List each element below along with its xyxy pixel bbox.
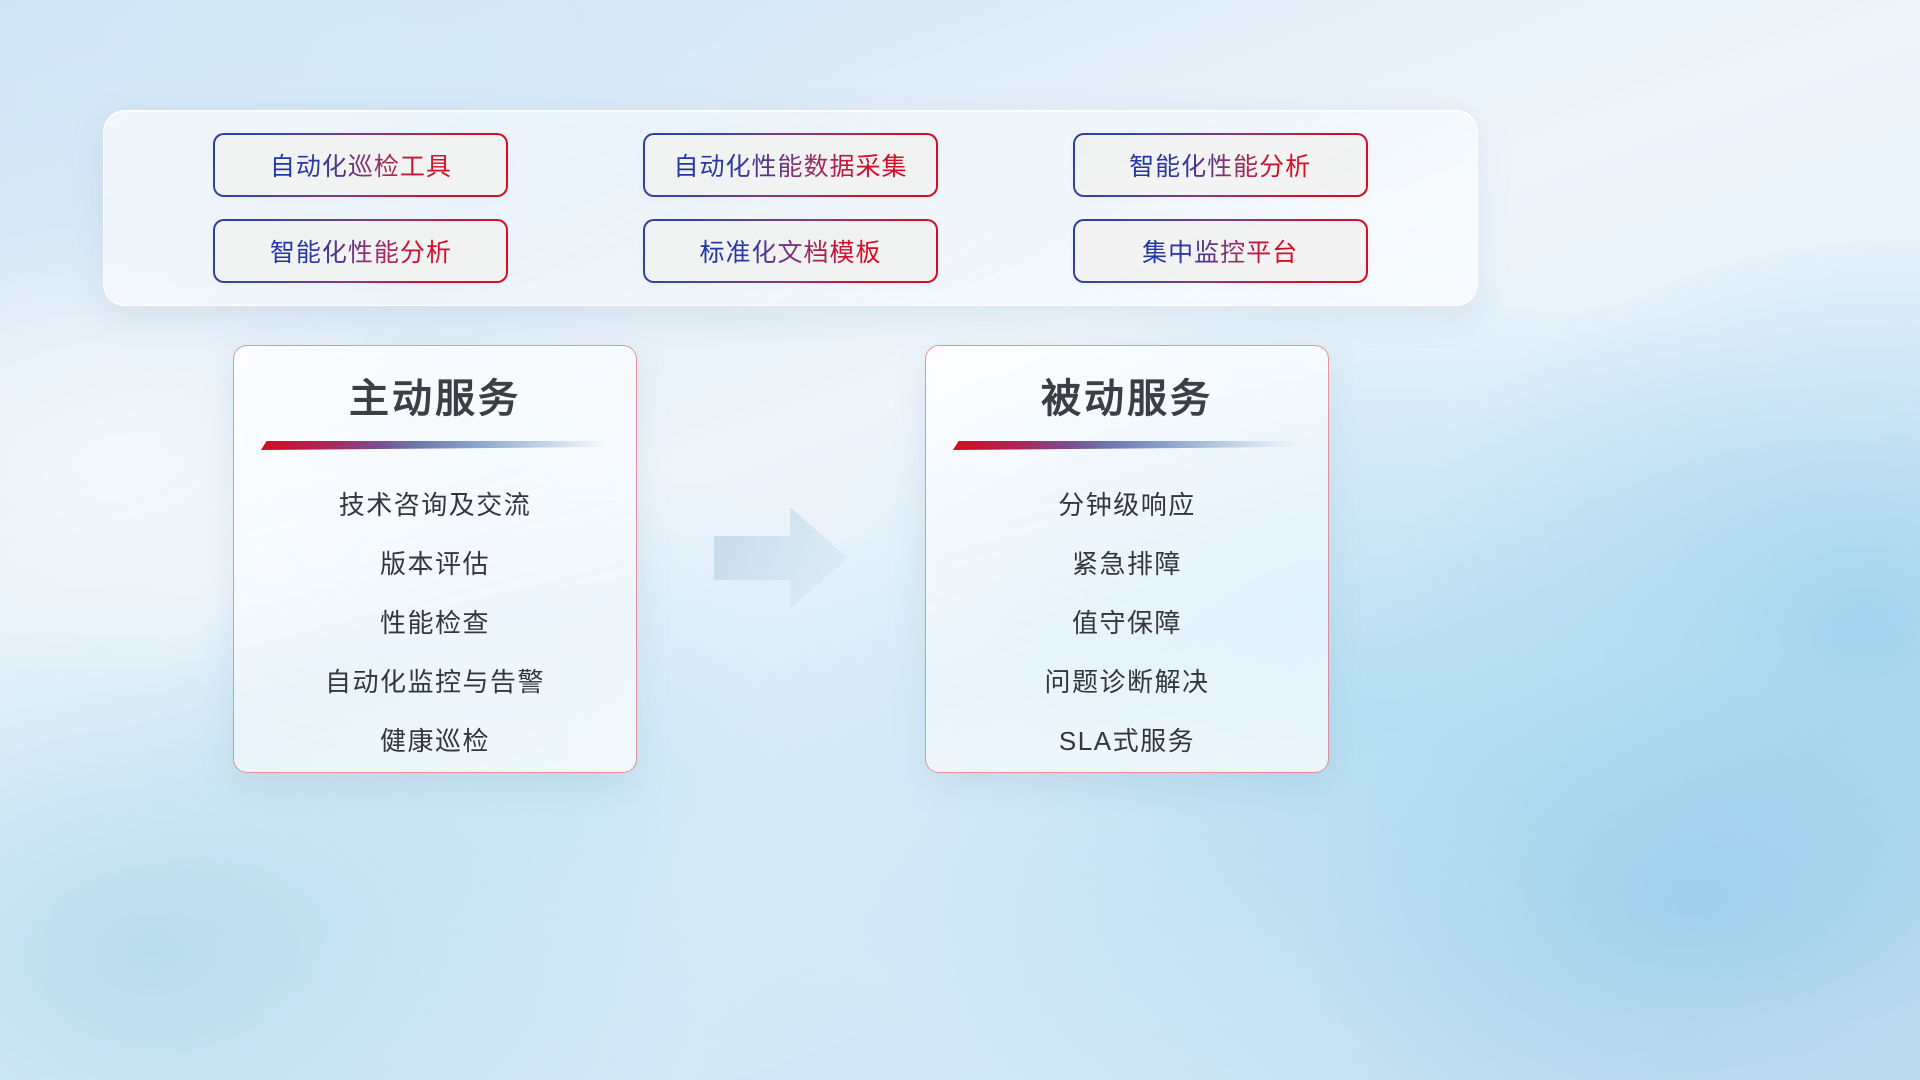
capability-pill-label: 集中监控平台: [1142, 233, 1298, 269]
capability-pill-label: 标准化文档模板: [699, 233, 881, 269]
capability-pill-label: 智能化性能分析: [270, 233, 452, 269]
list-item: 问题诊断解决: [946, 653, 1308, 712]
capability-pill-3[interactable]: 智能化性能分析: [1074, 135, 1366, 195]
card-title: 主动服务: [254, 374, 616, 424]
capability-pill-2[interactable]: 自动化性能数据采集: [644, 135, 936, 195]
service-item-list: 技术咨询及交流 版本评估 性能检查 自动化监控与告警 健康巡检: [254, 476, 616, 771]
right-arrow-icon: [712, 503, 850, 613]
list-item: SLA式服务: [946, 712, 1308, 771]
list-item: 版本评估: [254, 535, 616, 594]
list-item: 分钟级响应: [946, 476, 1308, 535]
list-item: 紧急排障: [946, 535, 1308, 594]
capability-pill-1[interactable]: 自动化巡检工具: [215, 135, 507, 195]
list-item: 值守保障: [946, 594, 1308, 653]
title-underline-bar: [953, 441, 1301, 450]
title-underline-bar: [261, 441, 609, 450]
card-title: 被动服务: [946, 374, 1308, 424]
list-item: 技术咨询及交流: [254, 476, 616, 535]
capability-pill-label: 自动化巡检工具: [270, 147, 452, 183]
list-item: 健康巡检: [254, 712, 616, 771]
service-item-list: 分钟级响应 紧急排障 值守保障 问题诊断解决 SLA式服务: [946, 476, 1308, 771]
service-card-active: 主动服务 技术咨询及交流 版本评估 性能检查 自动化监控与告警 健康巡检: [233, 345, 637, 773]
list-item: 自动化监控与告警: [254, 653, 616, 712]
capability-pill-6[interactable]: 集中监控平台: [1074, 221, 1366, 281]
capability-pill-grid: 自动化巡检工具 自动化性能数据采集 智能化性能分析 智能化性能分析 标准化文档模…: [104, 111, 1477, 305]
list-item: 性能检查: [254, 594, 616, 653]
capability-pill-5[interactable]: 标准化文档模板: [644, 221, 936, 281]
capability-pill-label: 自动化性能数据采集: [673, 147, 907, 183]
capability-panel: 自动化巡检工具 自动化性能数据采集 智能化性能分析 智能化性能分析 标准化文档模…: [103, 110, 1478, 306]
slide-canvas: 自动化巡检工具 自动化性能数据采集 智能化性能分析 智能化性能分析 标准化文档模…: [0, 0, 1920, 1080]
service-card-passive: 被动服务 分钟级响应 紧急排障 值守保障 问题诊断解决 SLA式服务: [925, 345, 1329, 773]
capability-pill-4[interactable]: 智能化性能分析: [215, 221, 507, 281]
capability-pill-label: 智能化性能分析: [1129, 147, 1311, 183]
